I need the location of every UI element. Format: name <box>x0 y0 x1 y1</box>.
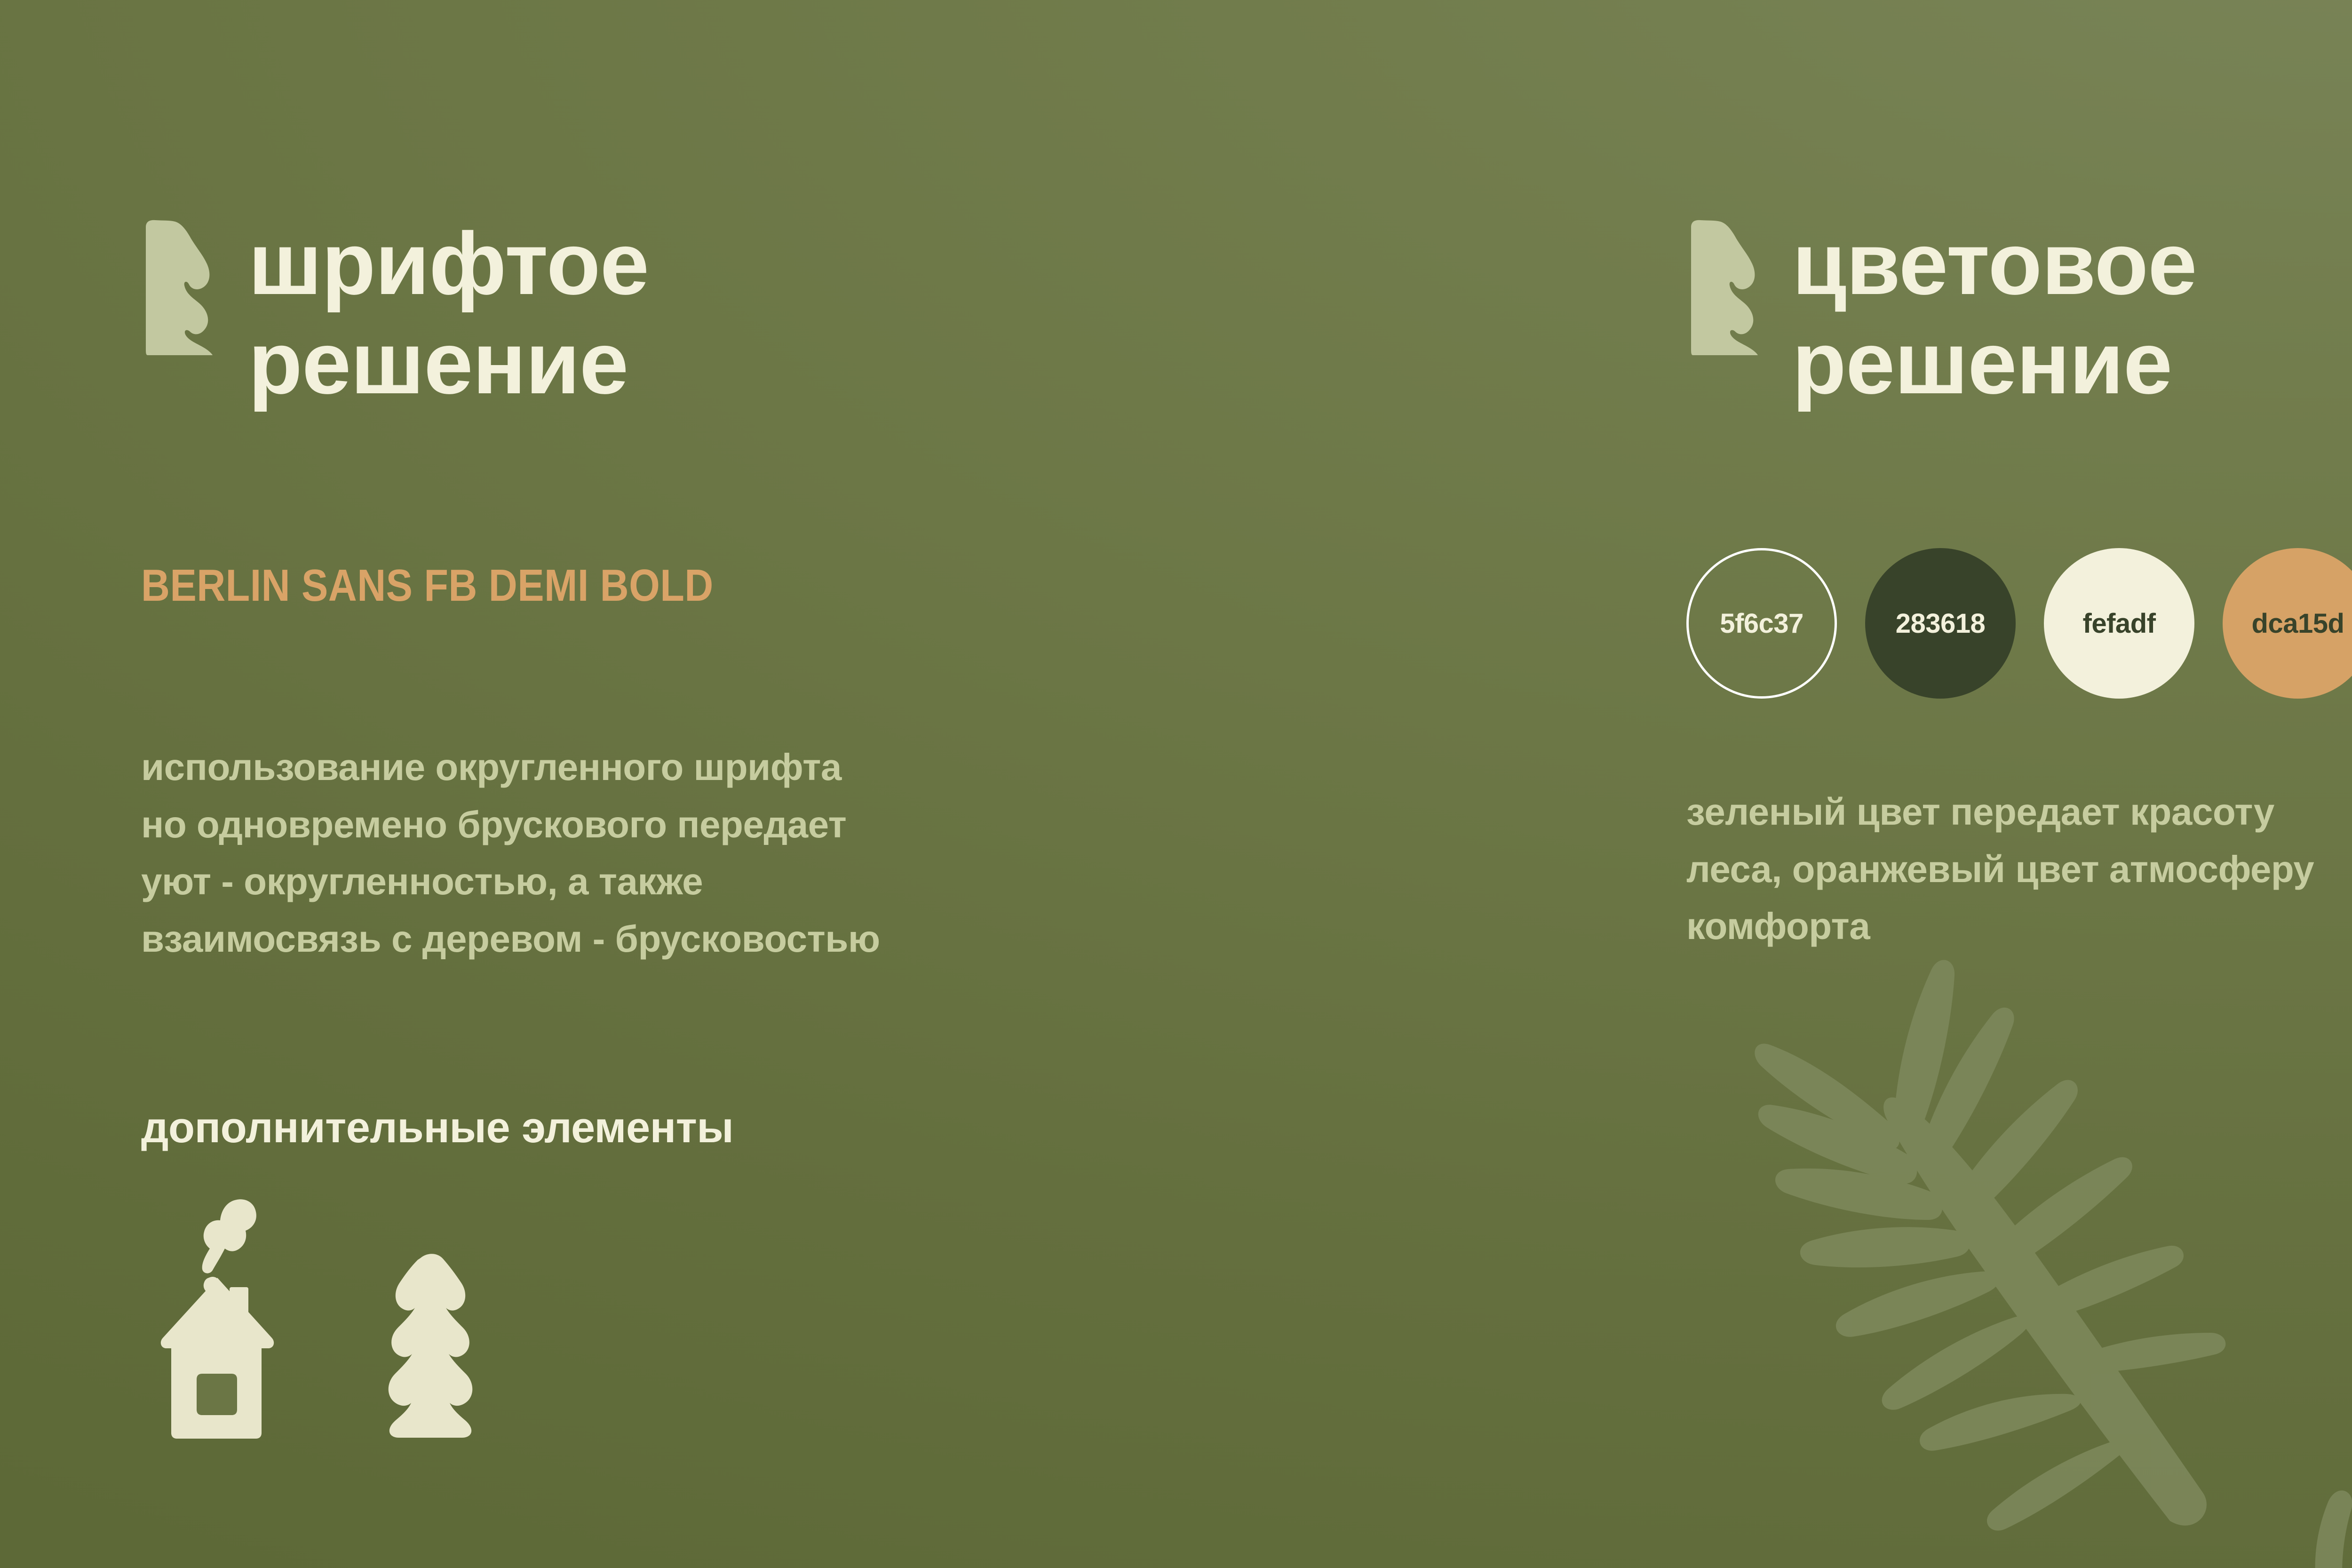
color-swatch-label: 283618 <box>1896 608 1986 639</box>
house-with-smoke-icon <box>151 1195 287 1440</box>
right-panel-body-text: зеленый цвет передает красоту леса, оран… <box>1686 783 2352 955</box>
slide-canvas: шрифтое решение BERLIN SANS FB DEMI BOLD… <box>0 0 2352 1568</box>
fir-tree-icon <box>372 1251 489 1440</box>
color-swatch[interactable]: 283618 <box>1865 548 2016 699</box>
color-swatch-label: 5f6c37 <box>1720 608 1804 639</box>
font-name-label: BERLIN SANS FB DEMI BOLD <box>141 560 714 612</box>
color-swatch-label: fefadf <box>2083 608 2156 639</box>
color-swatch[interactable]: dca15d <box>2223 548 2352 699</box>
right-panel-heading-block: цветовое решение <box>1686 214 2197 412</box>
extras-section-label: дополнительные элементы <box>141 1103 733 1153</box>
color-swatch-row: 5f6c37 283618 fefadf dca15d BC6C25 <box>1686 548 2352 699</box>
color-swatch[interactable]: 5f6c37 <box>1686 548 1837 699</box>
left-panel-heading-block: шрифтое решение <box>141 214 649 412</box>
extras-icon-row <box>151 1195 489 1440</box>
bear-silhouette-icon <box>1686 219 1766 355</box>
color-swatch-label: dca15d <box>2252 608 2344 639</box>
left-panel-title: шрифтое решение <box>248 214 649 412</box>
left-panel-body-text: использование округленного шрифта но одн… <box>141 739 1411 967</box>
right-panel-title: цветовое решение <box>1792 214 2197 412</box>
bear-silhouette-icon <box>141 219 221 355</box>
color-swatch[interactable]: fefadf <box>2044 548 2194 699</box>
